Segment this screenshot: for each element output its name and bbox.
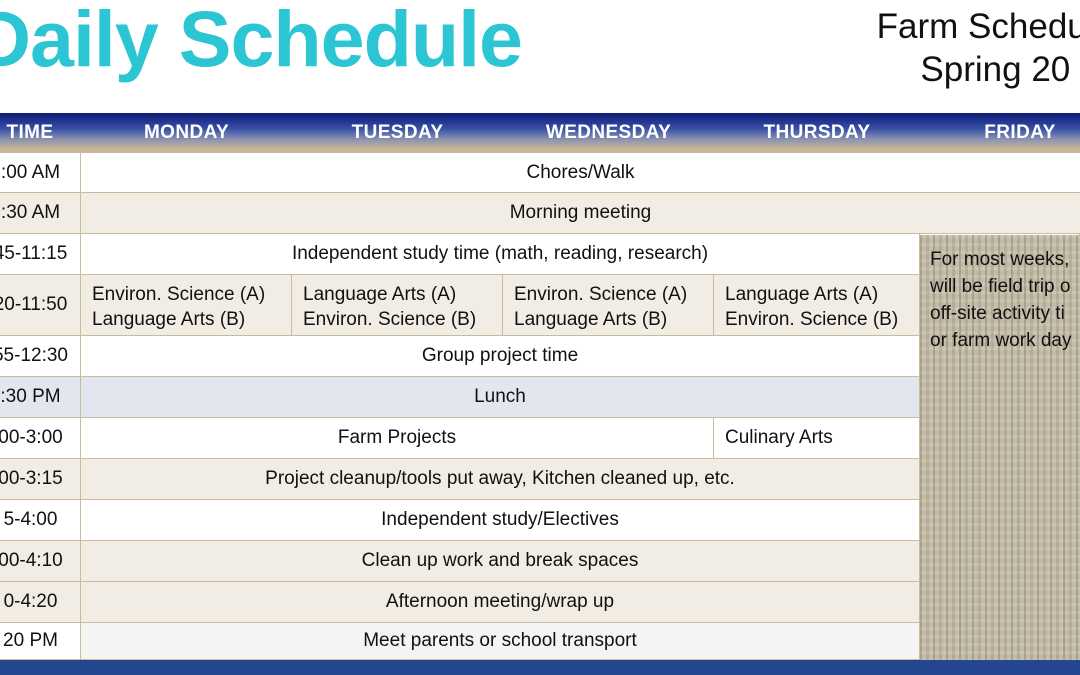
row-time-cell: 55-12:30 (0, 336, 81, 377)
table-row: :30 AM Morning meeting (0, 193, 1080, 234)
table-row: 00-3:15 Project cleanup/tools put away, … (0, 459, 1080, 500)
row-activity-cell: Lunch (81, 377, 920, 418)
row-time-cell: 45-11:15 (0, 234, 81, 275)
row-activity-cell: Clean up work and break spaces (81, 541, 920, 582)
row-time-cell: 0-4:20 (0, 582, 81, 623)
row-time-cell: 5-4:00 (0, 500, 81, 541)
subject-line-b: Language Arts (B) (92, 307, 291, 332)
schedule-grid: :00 AM Chores/Walk :30 AM Morning meetin… (0, 153, 1080, 660)
row-activity-cell: Independent study time (math, reading, r… (81, 234, 920, 275)
row-time-cell: :30 AM (0, 193, 81, 234)
table-row: :30 PM Lunch (0, 377, 1080, 418)
subject-line-b: Environ. Science (B) (725, 307, 919, 332)
row-activity-cell: Afternoon meeting/wrap up (81, 582, 920, 623)
note-line-3: off-site activity ti (930, 301, 1080, 328)
footer-bar (0, 660, 1080, 675)
note-line-1: For most weeks, (930, 247, 1080, 274)
row-time-cell: :00 AM (0, 153, 81, 193)
subject-line-a: Environ. Science (A) (92, 282, 291, 307)
page-title: Daily Schedule (0, 0, 522, 85)
row-activity-cell: Chores/Walk (81, 153, 1080, 193)
column-header-time: TIME (0, 113, 80, 153)
table-header-row: TIME MONDAY TUESDAY WEDNESDAY THURSDAY F… (0, 113, 1080, 153)
subject-line-a: Environ. Science (A) (514, 282, 713, 307)
cell-monday-subjects: Environ. Science (A) Language Arts (B) (81, 275, 292, 336)
row-time-cell: 00-3:00 (0, 418, 81, 459)
table-row: 20-11:50 Environ. Science (A) Language A… (0, 275, 1080, 336)
subject-line-a: Language Arts (A) (725, 282, 919, 307)
header-subtitle-line-1: Farm Schedule (877, 6, 1080, 49)
subject-line-a: Language Arts (A) (303, 282, 502, 307)
row-activity-cell: Project cleanup/tools put away, Kitchen … (81, 459, 920, 500)
row-activity-cell: Meet parents or school transport (81, 623, 920, 660)
table-row: 0-4:20 Afternoon meeting/wrap up (0, 582, 1080, 623)
column-header-wednesday: WEDNESDAY (503, 113, 714, 153)
cell-tuesday-subjects: Language Arts (A) Environ. Science (B) (292, 275, 503, 336)
header-subtitle-line-2: Spring 20 (877, 49, 1080, 92)
table-row: 55-12:30 Group project time (0, 336, 1080, 377)
row-activity-cell: Morning meeting (81, 193, 1080, 234)
subject-line-b: Environ. Science (B) (303, 307, 502, 332)
table-row: :00 AM Chores/Walk (0, 153, 1080, 193)
row-time-cell: 20-11:50 (0, 275, 81, 336)
row-activity-cell: Group project time (81, 336, 920, 377)
table-row: 45-11:15 Independent study time (math, r… (0, 234, 1080, 275)
header-subtitle-block: Farm Schedule Spring 20 (877, 6, 1080, 91)
table-row: 00-3:00 Farm Projects Culinary Arts (0, 418, 1080, 459)
subject-line-b: Language Arts (B) (514, 307, 713, 332)
row-time-cell: 20 PM (0, 623, 81, 660)
cell-farm-projects: Farm Projects (81, 418, 714, 459)
cell-culinary-arts: Culinary Arts (714, 418, 920, 459)
row-time-cell: 00-4:10 (0, 541, 81, 582)
cell-wednesday-subjects: Environ. Science (A) Language Arts (B) (503, 275, 714, 336)
row-activity-cell: Independent study/Electives (81, 500, 920, 541)
table-row: 5-4:00 Independent study/Electives (0, 500, 1080, 541)
column-header-thursday: THURSDAY (714, 113, 920, 153)
row-time-cell: 00-3:15 (0, 459, 81, 500)
friday-note-text: For most weeks, will be field trip o off… (930, 247, 1080, 355)
friday-note-panel: For most weeks, will be field trip o off… (920, 235, 1080, 660)
column-header-monday: MONDAY (81, 113, 292, 153)
cell-thursday-subjects: Language Arts (A) Environ. Science (B) (714, 275, 920, 336)
page-header: Daily Schedule Farm Schedule Spring 20 (0, 0, 1080, 113)
note-line-4: or farm work day (930, 328, 1080, 355)
table-row: 20 PM Meet parents or school transport (0, 623, 1080, 660)
row-time-cell: :30 PM (0, 377, 81, 418)
table-row: 00-4:10 Clean up work and break spaces (0, 541, 1080, 582)
column-header-friday: FRIDAY (920, 113, 1080, 153)
note-line-2: will be field trip o (930, 274, 1080, 301)
column-header-tuesday: TUESDAY (292, 113, 503, 153)
